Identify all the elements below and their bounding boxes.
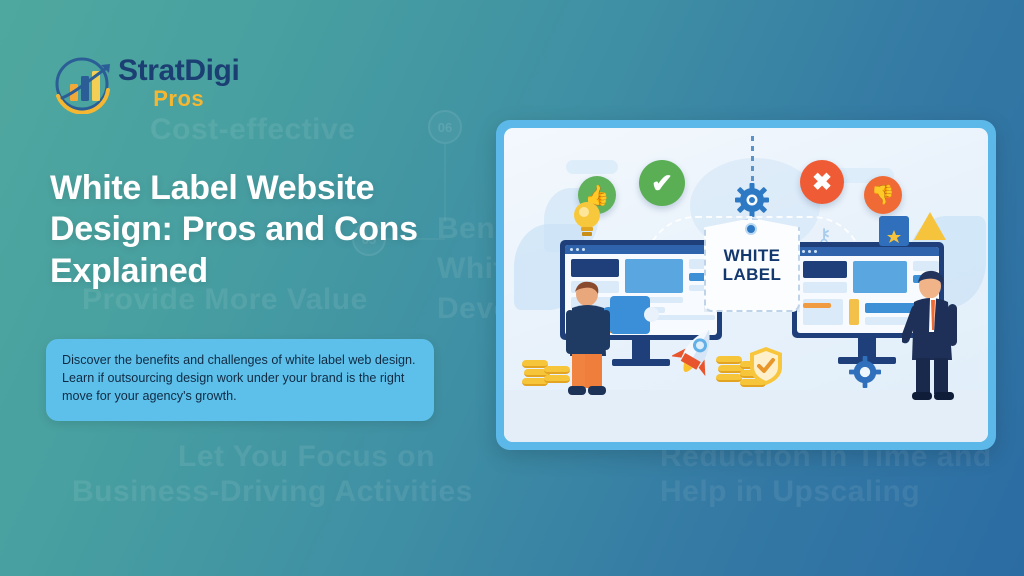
puzzle-piece-icon — [610, 296, 650, 334]
lightbulb-icon — [572, 200, 602, 238]
logo-wordmark: StratDigi Pros — [118, 56, 239, 110]
shopping-bag-icon — [879, 216, 909, 246]
thumbs-down-icon: 👎 — [864, 176, 902, 214]
shield-check-icon — [749, 346, 783, 386]
gear-icon — [849, 356, 881, 388]
description-box: Discover the benefits and challenges of … — [46, 339, 434, 421]
monitor-left-base — [612, 359, 670, 366]
gear-icon — [735, 183, 769, 217]
cloud-decor — [566, 160, 618, 174]
brand-logo[interactable]: StratDigi Pros — [52, 52, 239, 114]
illustration-canvas: 👍 ✔ ✖ 👎 ⚷ ⚷ ⚷ — [504, 128, 988, 442]
hero-illustration: 👍 ✔ ✖ 👎 ⚷ ⚷ ⚷ — [496, 120, 996, 450]
person-with-puzzle-piece — [562, 280, 614, 400]
page-title: White Label Website Design: Pros and Con… — [50, 168, 450, 292]
logo-subname: Pros — [118, 88, 239, 110]
watermark-reduction-line2: Help in Upscaling — [660, 475, 920, 510]
rocket-icon — [672, 324, 718, 384]
tag-line-1: WHITE — [724, 246, 781, 265]
hanging-dotted-line — [751, 136, 754, 184]
close-icon: ✖ — [800, 160, 844, 204]
logo-name: StratDigi — [118, 56, 239, 86]
watermark-focus-line2: Business-Driving Activities — [72, 475, 473, 510]
businessman-presenting — [902, 268, 962, 400]
tag-line-2: LABEL — [723, 265, 782, 284]
watermark-focus-line1: Let You Focus on — [178, 440, 435, 475]
watermark-badge-06: 06 — [428, 110, 462, 144]
screen-titlebar — [797, 247, 939, 256]
warning-triangle-icon — [914, 212, 946, 240]
tag-eyelet — [745, 223, 757, 235]
screen-titlebar — [565, 245, 717, 254]
bar-chart-swoosh-icon — [52, 52, 120, 114]
check-icon: ✔ — [639, 160, 685, 206]
watermark-cost-effective: Cost-effective — [150, 113, 355, 148]
